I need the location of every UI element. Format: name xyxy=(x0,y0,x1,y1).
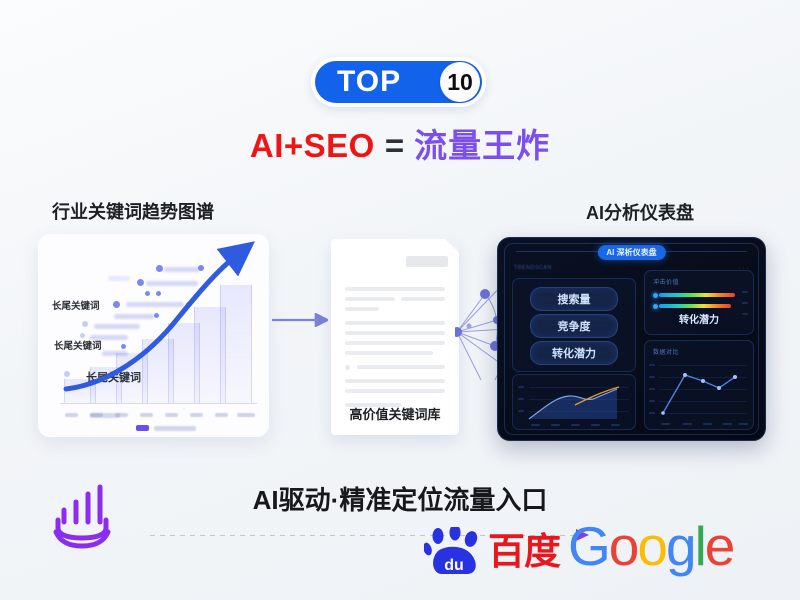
axis-tick xyxy=(140,413,153,417)
dashboard-brand: TRENDSCAN xyxy=(514,265,552,271)
google-letter-e: e xyxy=(705,515,734,577)
google-letter-l: l xyxy=(695,515,705,577)
ai-dashboard: AI 深析仪表盘 TRENDSCAN ··· 搜索量 竞争度 转化潜力 冲击价值… xyxy=(497,237,766,441)
metric-pill-conversion[interactable]: 转化潜力 xyxy=(530,341,618,365)
google-letter-g: g xyxy=(666,515,695,577)
gradient-gauge-bar xyxy=(659,293,735,297)
metric-pill-search-volume[interactable]: 搜索量 xyxy=(530,287,618,311)
page-title: AI+SEO=流量王炸 xyxy=(0,129,800,162)
gauge-marker xyxy=(653,293,658,298)
gauge-marker xyxy=(653,304,658,309)
logo-baidu: du 百度 xyxy=(424,527,574,579)
line-chart xyxy=(645,341,753,429)
headline-equals: = xyxy=(385,127,404,164)
google-letter-o2: o xyxy=(637,515,666,577)
flow-arrow-icon xyxy=(272,313,328,327)
area-chart xyxy=(513,375,635,429)
google-letter-o1: o xyxy=(609,515,638,577)
doc-text-line xyxy=(345,287,445,291)
baidu-paw-icon: du xyxy=(424,527,486,577)
doc-header-block xyxy=(406,256,448,267)
trend-area-panel xyxy=(512,374,636,430)
bar-chart-icon xyxy=(48,482,122,550)
slide-canvas: TOP 10 AI+SEO=流量王炸 行业关键词趋势图谱 AI分析仪表盘 xyxy=(0,0,800,600)
right-section-caption: AI分析仪表盘 xyxy=(586,199,694,225)
top-badge-number: 10 xyxy=(447,71,473,94)
metrics-panel: 搜索量 竞争度 转化潜力 xyxy=(512,278,636,372)
gauge-label: 转化潜力 xyxy=(679,311,719,326)
logo-google: Google xyxy=(568,519,733,574)
axis-tick xyxy=(190,413,203,417)
chart-axis xyxy=(60,403,257,404)
trend-chart: 长尾关键词 长尾关键词 长尾关键词 xyxy=(38,234,269,437)
top-badge-word: TOP xyxy=(337,67,401,97)
doc-text-line xyxy=(357,365,445,369)
doc-text-line xyxy=(345,321,445,325)
doc-bullet xyxy=(345,365,350,370)
legend-swatch xyxy=(136,425,149,431)
doc-text-line xyxy=(345,331,445,335)
doc-text-line xyxy=(345,379,445,383)
document-caption: 高价值关键词库 xyxy=(331,404,459,423)
impact-value-panel: 冲击价值 转化潜力 xyxy=(644,270,754,335)
doc-text-line xyxy=(345,307,379,311)
gradient-gauge-bar xyxy=(659,304,731,308)
axis-tick xyxy=(215,413,228,417)
doc-text-line xyxy=(345,351,433,355)
growth-arrow-icon xyxy=(38,234,269,437)
metric-pill-competition[interactable]: 竞争度 xyxy=(530,314,618,338)
dashboard-title-badge: AI 深析仪表盘 xyxy=(597,245,665,260)
left-section-caption: 行业关键词趋势图谱 xyxy=(52,198,214,224)
axis-tick xyxy=(237,413,255,417)
doc-text-line xyxy=(345,389,445,393)
svg-text:du: du xyxy=(444,557,464,574)
header-rule xyxy=(652,251,747,252)
doc-text-line xyxy=(345,341,445,345)
keyword-trend-chart-card: 长尾关键词 长尾关键词 长尾关键词 xyxy=(38,234,269,437)
google-letter-G: G xyxy=(568,515,609,577)
page-fold-icon xyxy=(445,239,459,253)
headline-left: AI+SEO xyxy=(250,127,375,164)
axis-subtitle xyxy=(90,413,120,418)
axis-tick xyxy=(65,413,78,417)
data-comparison-panel: 数据对比 xyxy=(644,340,754,430)
doc-text-line xyxy=(401,297,445,301)
legend-label xyxy=(154,426,196,431)
panel-title: 冲击价值 xyxy=(653,277,679,286)
keyword-library-document: 高价值关键词库 xyxy=(331,239,459,435)
top-rank-badge: TOP 10 xyxy=(311,57,486,107)
doc-text-line xyxy=(345,297,395,301)
headline-right: 流量王炸 xyxy=(414,127,550,164)
top-badge-circle: 10 xyxy=(440,62,480,102)
axis-tick xyxy=(165,413,178,417)
baidu-wordmark: 百度 xyxy=(488,533,560,570)
